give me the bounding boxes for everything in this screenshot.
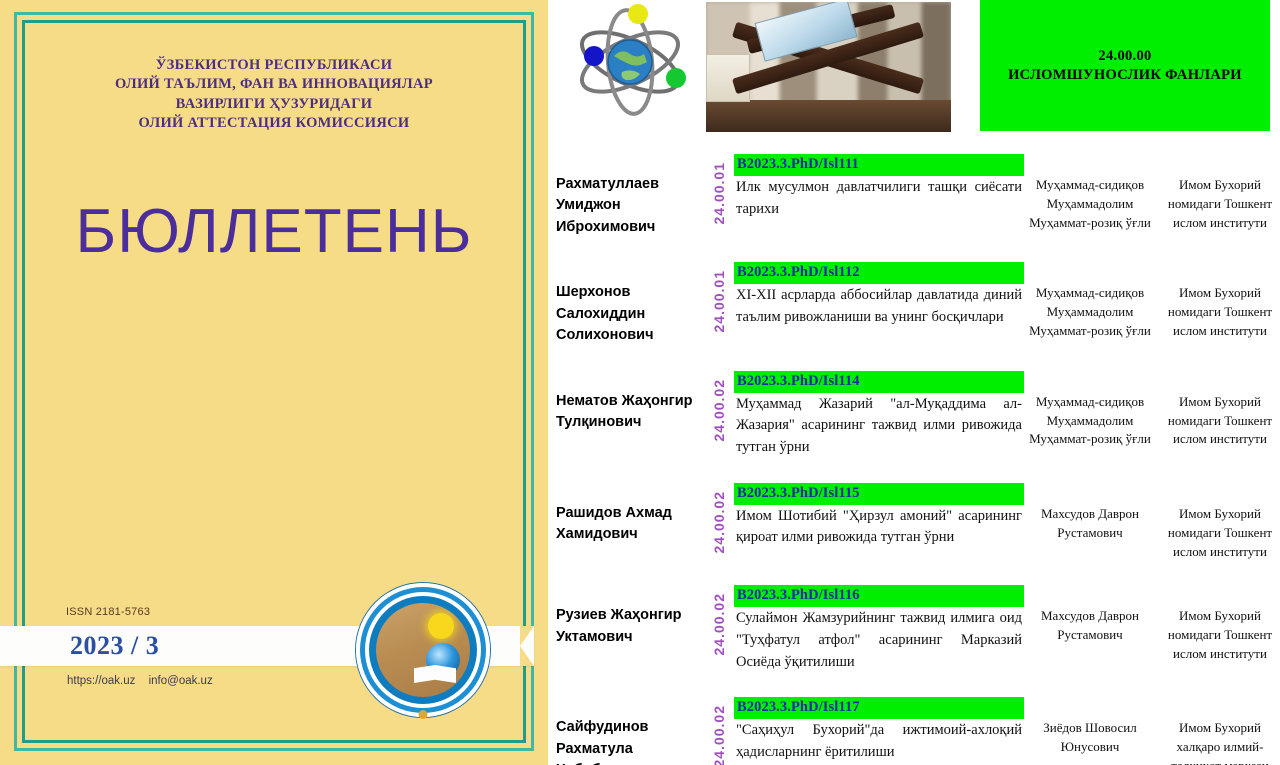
specialty-code: 24.00.01	[711, 270, 727, 333]
institution: Имом Бухорий номидаги Тошкент ислом инст…	[1156, 154, 1280, 233]
candidate-name: Рузиев Жаҳонгир Уктамович	[556, 585, 704, 648]
dissertation-code: B2023.3.PhD/Isl117	[734, 697, 1024, 719]
table-row[interactable]: Шерхонов Салохиддин Солихонович 24.00.01…	[548, 262, 1278, 346]
dissertation-code: B2023.3.PhD/Isl115	[734, 483, 1024, 505]
dissertation-topic: Сулаймон Жамзурийнинг тажвид илмига оид …	[734, 607, 1024, 673]
scientific-advisor: Махсудов Даврон Рустамович	[1024, 483, 1156, 543]
institution: Имом Бухорий номидаги Тошкент ислом инст…	[1156, 483, 1280, 562]
specialty-code: 24.00.02	[711, 705, 727, 765]
sun-icon	[428, 613, 454, 639]
topic-cell: B2023.3.PhD/Isl112 XI-XII асрларда аббос…	[734, 262, 1024, 328]
topic-cell: B2023.3.PhD/Isl115 Имом Шотибий "Ҳирзул …	[734, 483, 1024, 549]
bulletin-page: ЎЗБЕКИСТОН РЕСПУБЛИКАСИ ОЛИЙ ТАЪЛИМ, ФАН…	[0, 0, 1280, 765]
email-link[interactable]: info@oak.uz	[149, 675, 213, 687]
specialty-code-cell: 24.00.01	[704, 262, 734, 346]
journal-cover: ЎЗБЕКИСТОН РЕСПУБЛИКАСИ ОЛИЙ ТАЪЛИМ, ФАН…	[0, 0, 548, 765]
ministry-line-2: ОЛИЙ ТАЪЛИМ, ФАН ВА ИННОВАЦИЯЛАР	[0, 75, 548, 94]
dissertation-code: B2023.3.PhD/Isl111	[734, 154, 1024, 176]
topic-cell: B2023.3.PhD/Isl117 "Саҳиҳул Бухорий"да и…	[734, 697, 1024, 763]
institution: Имом Бухорий номидаги Тошкент ислом инст…	[1156, 585, 1280, 664]
scientific-advisor: Муҳаммад-сидиқов Муҳаммадолим Муҳаммат-р…	[1024, 154, 1156, 233]
table-row[interactable]: Сайфудинов Рахматула Хабибулаевич 24.00.…	[548, 697, 1278, 765]
website-link[interactable]: https://oak.uz	[67, 675, 135, 687]
table-row[interactable]: Рахматуллаев Умиджон Иброхимович 24.00.0…	[548, 154, 1278, 238]
row-separator	[548, 673, 1280, 697]
table-row[interactable]: Рашидов Ахмад Хамидович 24.00.02 B2023.3…	[548, 483, 1278, 562]
oak-emblem-icon	[356, 583, 490, 717]
listing-content: 24.00.00 ИСЛОМШУНОСЛИК ФАНЛАРИ Рахматулл…	[548, 0, 1280, 765]
photo-table	[706, 100, 951, 132]
specialty-code: 24.00.02	[711, 593, 727, 656]
topic-cell: B2023.3.PhD/Isl116 Сулаймон Жамзурийнинг…	[734, 585, 1024, 673]
specialty-code-cell: 24.00.02	[704, 697, 734, 765]
candidate-name: Нематов Жаҳонгир Тулқинович	[556, 371, 704, 434]
dissertation-code: B2023.3.PhD/Isl112	[734, 262, 1024, 284]
cover-main-title: БЮЛЛЕТЕНЬ	[0, 196, 548, 267]
specialty-code-cell: 24.00.02	[704, 585, 734, 673]
specialty-code: 24.00.02	[711, 379, 727, 442]
specialty-code: 24.00.02	[711, 491, 727, 554]
specialty-code-cell: 24.00.01	[704, 154, 734, 238]
book-icon	[414, 665, 456, 683]
specialty-code: 24.00.01	[711, 162, 727, 225]
dissertation-topic: Имом Шотибий "Ҳирзул амоний" асарининг қ…	[734, 505, 1024, 550]
subject-code: 24.00.00	[1098, 48, 1151, 65]
subject-category-box: 24.00.00 ИСЛОМШУНОСЛИК ФАНЛАРИ	[980, 0, 1270, 131]
row-separator	[548, 459, 1280, 483]
quran-stand-photo	[706, 2, 951, 132]
topic-cell: B2023.3.PhD/Isl114 Муҳаммад Жазарий "ал-…	[734, 371, 1024, 459]
institution: Имом Бухорий номидаги Тошкент ислом инст…	[1156, 371, 1280, 450]
table-row[interactable]: Рузиев Жаҳонгир Уктамович 24.00.02 B2023…	[548, 585, 1278, 673]
dissertation-topic: Муҳаммад Жазарий "ал-Муқаддима ал-Жазари…	[734, 393, 1024, 459]
institution: Имом Бухорий номидаги Тошкент ислом инст…	[1156, 262, 1280, 341]
institution: Имом Бухорий халқаро илмий-тадқиқот марк…	[1156, 697, 1280, 765]
subject-name: ИСЛОМШУНОСЛИК ФАНЛАРИ	[1008, 67, 1242, 84]
dissertation-topic: "Саҳиҳул Бухорий"да ижтимоий-ахлоқий ҳад…	[734, 719, 1024, 764]
candidate-name: Рахматуллаев Умиджон Иброхимович	[556, 154, 704, 238]
ministry-title: ЎЗБЕКИСТОН РЕСПУБЛИКАСИ ОЛИЙ ТАЪЛИМ, ФАН…	[0, 56, 548, 133]
scientific-advisor: Зиёдов Шовосил Юнусович	[1024, 697, 1156, 757]
specialty-code-cell: 24.00.02	[704, 371, 734, 459]
ministry-line-1: ЎЗБЕКИСТОН РЕСПУБЛИКАСИ	[0, 56, 548, 75]
candidate-name: Шерхонов Салохиддин Солихонович	[556, 262, 704, 346]
dissertation-table: Рахматуллаев Умиджон Иброхимович 24.00.0…	[548, 140, 1280, 765]
dissertation-code: B2023.3.PhD/Isl116	[734, 585, 1024, 607]
table-row[interactable]: Нематов Жаҳонгир Тулқинович 24.00.02 B20…	[548, 371, 1278, 459]
issue-number: 2023 / 3	[70, 631, 159, 661]
candidate-name: Сайфудинов Рахматула Хабибулаевич	[556, 697, 704, 765]
section-header: 24.00.00 ИСЛОМШУНОСЛИК ФАНЛАРИ	[548, 0, 1280, 140]
scientific-advisor: Махсудов Даврон Рустамович	[1024, 585, 1156, 645]
topic-cell: B2023.3.PhD/Isl111 Илк мусулмон давлатчи…	[734, 154, 1024, 220]
ministry-line-3: ВАЗИРЛИГИ ҲУЗУРИДАГИ	[0, 95, 548, 114]
issn-label: ISSN 2181-5763	[66, 606, 150, 618]
scientific-advisor: Муҳаммад-сидиқов Муҳаммадолим Муҳаммат-р…	[1024, 371, 1156, 450]
row-separator	[548, 347, 1280, 371]
specialty-code-cell: 24.00.02	[704, 483, 734, 562]
emblem-bottom-dot	[419, 710, 428, 719]
atom-globe-icon	[568, 4, 693, 122]
dissertation-code: B2023.3.PhD/Isl114	[734, 371, 1024, 393]
dissertation-topic: Илк мусулмон давлатчилиги ташқи сиёсати …	[734, 176, 1024, 221]
cover-contact-links: https://oak.uz info@oak.uz	[67, 675, 223, 687]
emblem-disc	[376, 603, 470, 697]
dissertation-topic: XI-XII асрларда аббосийлар давлатида дин…	[734, 284, 1024, 329]
row-separator	[548, 561, 1280, 585]
scientific-advisor: Муҳаммад-сидиқов Муҳаммадолим Муҳаммат-р…	[1024, 262, 1156, 341]
row-separator	[548, 238, 1280, 262]
candidate-name: Рашидов Ахмад Хамидович	[556, 483, 704, 546]
ministry-line-4: ОЛИЙ АТТЕСТАЦИЯ КОМИССИЯСИ	[0, 114, 548, 133]
